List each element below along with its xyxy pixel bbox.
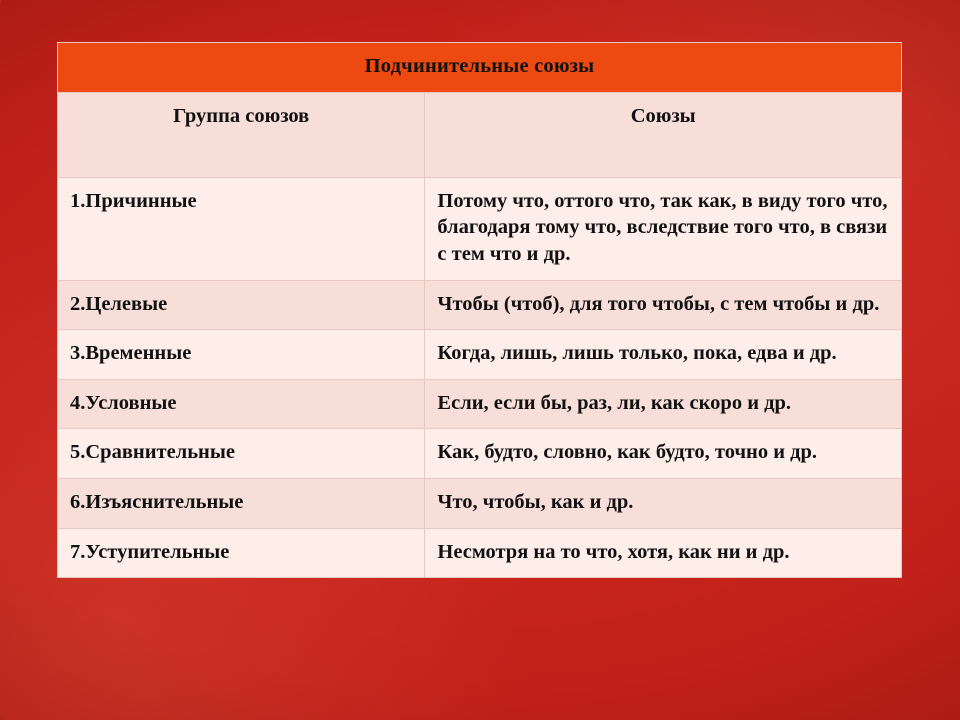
table-title-row: Подчинительные союзы <box>58 43 902 93</box>
table-row: 6.Изъяснительные Что, чтобы, как и др. <box>58 479 902 529</box>
row-conjunctions: Что, чтобы, как и др. <box>425 479 902 529</box>
column-header-conjunctions: Союзы <box>425 92 902 177</box>
row-group-label: 2.Целевые <box>58 280 425 330</box>
conjunctions-table-container: Подчинительные союзы Группа союзов Союзы… <box>57 42 902 578</box>
table-row: 1.Причинные Потому что, оттого что, так … <box>58 177 902 280</box>
row-group-label: 7.Уступительные <box>58 528 425 578</box>
conjunctions-table: Подчинительные союзы Группа союзов Союзы… <box>57 42 902 578</box>
table-row: 4.Условные Если, если бы, раз, ли, как с… <box>58 379 902 429</box>
table-row: 7.Уступительные Несмотря на то что, хотя… <box>58 528 902 578</box>
row-conjunctions: Когда, лишь, лишь только, пока, едва и д… <box>425 330 902 380</box>
table-row: 2.Целевые Чтобы (чтоб), для того чтобы, … <box>58 280 902 330</box>
row-conjunctions: Несмотря на то что, хотя, как ни и др. <box>425 528 902 578</box>
table-row: 5.Сравнительные Как, будто, словно, как … <box>58 429 902 479</box>
row-group-label: 5.Сравнительные <box>58 429 425 479</box>
row-conjunctions: Чтобы (чтоб), для того чтобы, с тем чтоб… <box>425 280 902 330</box>
table-row: 3.Временные Когда, лишь, лишь только, по… <box>58 330 902 380</box>
table-header-row: Группа союзов Союзы <box>58 92 902 177</box>
row-conjunctions: Как, будто, словно, как будто, точно и д… <box>425 429 902 479</box>
row-group-label: 3.Временные <box>58 330 425 380</box>
table-body: Подчинительные союзы Группа союзов Союзы… <box>58 43 902 578</box>
slide: Подчинительные союзы Группа союзов Союзы… <box>0 0 960 720</box>
row-group-label: 4.Условные <box>58 379 425 429</box>
column-header-group: Группа союзов <box>58 92 425 177</box>
row-group-label: 6.Изъяснительные <box>58 479 425 529</box>
row-group-label: 1.Причинные <box>58 177 425 280</box>
row-conjunctions: Потому что, оттого что, так как, в виду … <box>425 177 902 280</box>
row-conjunctions: Если, если бы, раз, ли, как скоро и др. <box>425 379 902 429</box>
table-title: Подчинительные союзы <box>58 43 902 93</box>
